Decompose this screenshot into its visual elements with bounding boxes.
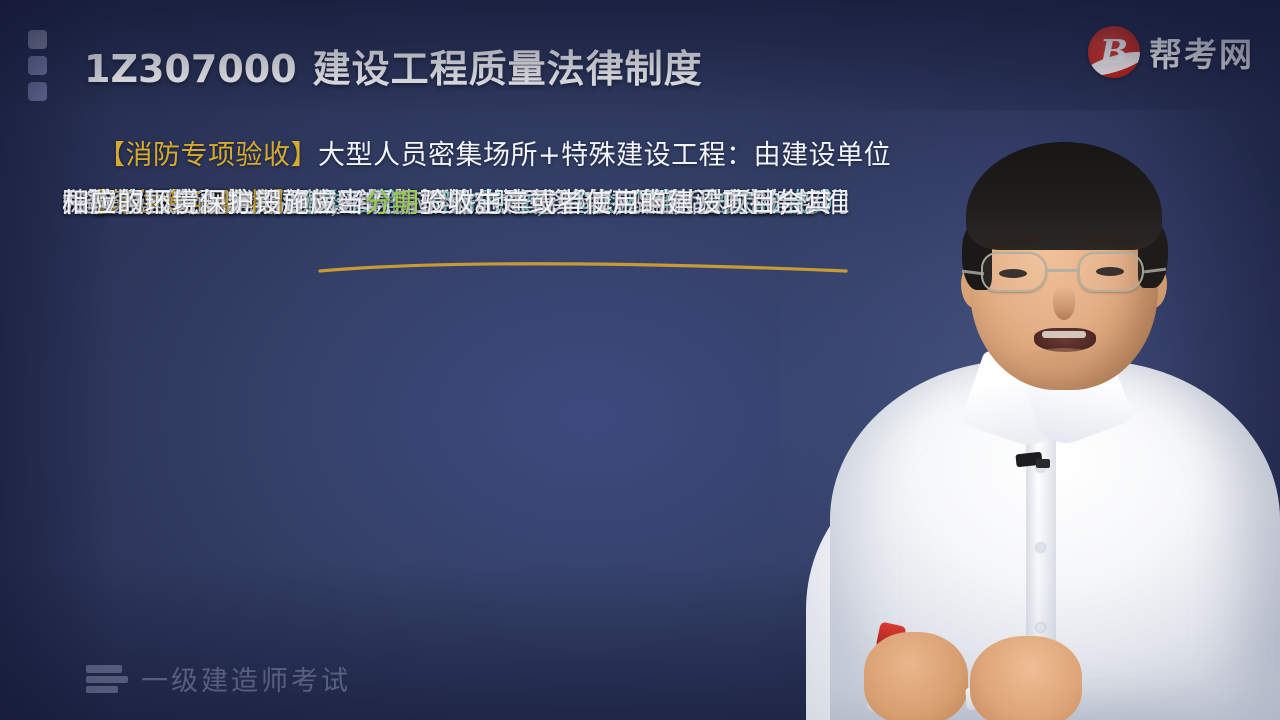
- instructor-video-overlay: [820, 120, 1280, 720]
- body-line-4: 【消防专项验收】大型人员密集场所+特殊建设工程：由建设单位向住建部门申请验收；其…: [62, 132, 872, 180]
- shirt-button-3: [1036, 623, 1045, 632]
- slide-body: 【消防专项验收】大型人员密集场所+特殊建设工程：由建设单位向住建部门申请验收；其…: [62, 132, 872, 180]
- gold-underline-annotation: [318, 262, 848, 276]
- page-title: 1Z307000建设工程质量法律制度: [84, 38, 703, 93]
- body-line-8-segment-1: 相应的环境保护设施应当: [62, 188, 365, 219]
- watermark: 一级建造师考试: [86, 659, 351, 698]
- square-icon-1: [28, 30, 47, 49]
- nose: [1053, 286, 1075, 320]
- brand-logo: B 帮考网: [1088, 26, 1254, 78]
- body-line-8-segment-3: 验收。: [420, 188, 503, 219]
- page-title-code: 1Z307000: [84, 47, 297, 91]
- body-line-1-segment-1: 【消防专项验收】: [98, 140, 318, 171]
- square-icon-2: [28, 56, 47, 75]
- body-line-8-segment-2: 分期: [365, 188, 420, 219]
- teeth: [1042, 331, 1086, 338]
- book-stack-icon: [86, 665, 128, 693]
- brand-name: 帮考网: [1149, 28, 1254, 76]
- body-line-5: 【消防专项验收】大型人员密集场所+特殊建设工程：由建设单位向住建部门申请验收；其…: [62, 132, 872, 180]
- hand-right: [970, 636, 1082, 720]
- slide-header: 1Z307000建设工程质量法律制度 B 帮考网: [0, 0, 1280, 118]
- shirt-button-2: [1036, 543, 1045, 552]
- body-line-1: 【消防专项验收】大型人员密集场所+特殊建设工程：由建设单位: [80, 132, 872, 180]
- watermark-text: 一级建造师考试: [141, 659, 351, 698]
- chin: [1016, 348, 1112, 384]
- body-line-3: 【消防专项验收】大型人员密集场所+特殊建设工程：由建设单位向住建部门申请验收；其…: [80, 132, 872, 180]
- body-line-1-segment-2: 大型人员密集场所+特殊建设工程：由建设单位: [318, 140, 891, 171]
- three-squares-icon: [28, 30, 47, 101]
- hand-left: [864, 632, 968, 720]
- page-title-text: 建设工程质量法律制度: [313, 47, 703, 91]
- glasses-bridge: [1047, 269, 1078, 272]
- square-icon-3: [28, 82, 47, 101]
- body-line-7: 【消防专项验收】大型人员密集场所+特殊建设工程：由建设单位向住建部门申请验收；其…: [62, 132, 872, 180]
- slide-canvas: 1Z307000建设工程质量法律制度 B 帮考网 【消防专项验收】大型人员密集场…: [0, 0, 1280, 720]
- brand-mark-icon: B: [1088, 26, 1140, 78]
- glasses-lens-right: [1078, 252, 1144, 292]
- body-line-2: 【消防专项验收】大型人员密集场所+特殊建设工程：由建设单位向住建部门申请验收；其…: [80, 132, 872, 180]
- body-line-8: 【消防专项验收】大型人员密集场所+特殊建设工程：由建设单位向住建部门申请验收；其…: [62, 132, 872, 180]
- glasses-lens-left: [981, 252, 1047, 292]
- body-line-6: 【消防专项验收】大型人员密集场所+特殊建设工程：由建设单位向住建部门申请验收；其…: [62, 132, 872, 180]
- brand-letter: B: [1088, 35, 1140, 68]
- lapel-microphone-clip: [1036, 459, 1050, 468]
